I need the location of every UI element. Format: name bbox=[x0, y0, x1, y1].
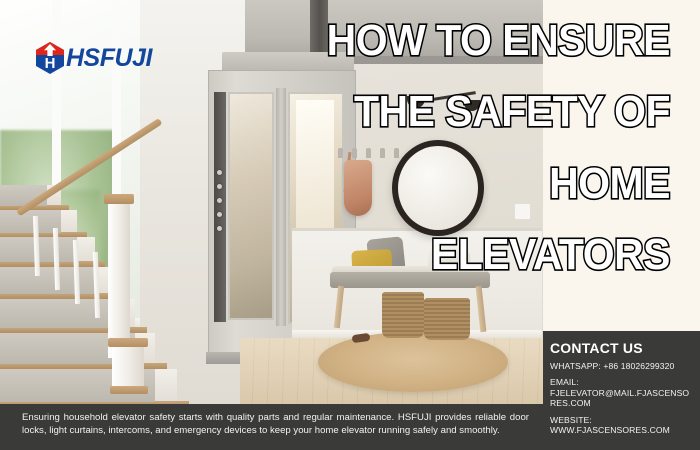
basket-2 bbox=[424, 298, 470, 340]
newel-post bbox=[108, 200, 130, 358]
logo-letter-h: H bbox=[36, 53, 64, 74]
contact-whatsapp[interactable]: WHATSAPP: +86 18026299320 bbox=[550, 361, 692, 371]
headline-line-1: HOW TO ENSURE bbox=[214, 18, 670, 63]
newel-post-base bbox=[112, 345, 144, 390]
contact-email[interactable]: EMAIL: FJELEVATOR@MAIL.FJASCENSORES.COM bbox=[550, 377, 692, 408]
hsfuji-logo[interactable]: H HSFUJI bbox=[36, 42, 152, 74]
basket-1 bbox=[382, 292, 424, 338]
contact-website[interactable]: WEBSITE: WWW.FJASCENSORES.COM bbox=[550, 415, 692, 436]
headline-line-2: THE SAFETY OF bbox=[214, 89, 670, 134]
description-bar: Ensuring household elevator safety start… bbox=[0, 404, 543, 450]
contact-title: CONTACT US bbox=[550, 340, 692, 356]
headline: HOW TO ENSURE THE SAFETY OF HOME ELEVATO… bbox=[180, 18, 670, 277]
headline-line-4: ELEVATORS bbox=[214, 232, 670, 277]
poster-canvas: H HSFUJI HOW TO ENSURE THE SAFETY OF HOM… bbox=[0, 0, 700, 450]
contact-panel: CONTACT US WHATSAPP: +86 18026299320 EMA… bbox=[543, 331, 700, 450]
jute-rug bbox=[318, 332, 508, 392]
headline-line-3: HOME bbox=[214, 161, 670, 206]
hsfuji-logo-mark-icon: H bbox=[36, 42, 64, 74]
logo-wordmark: HSFUJI bbox=[66, 44, 152, 73]
